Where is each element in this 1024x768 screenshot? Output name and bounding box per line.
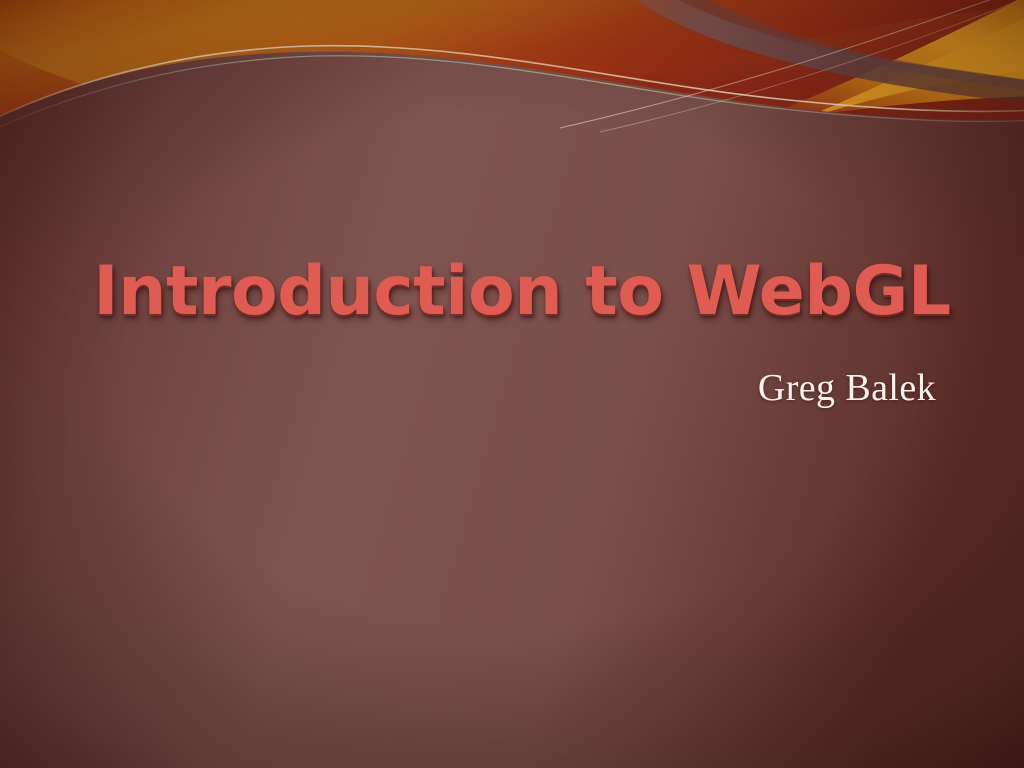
presenter-name: Greg Balek xyxy=(92,366,936,410)
subtitle-placeholder: Greg Balek xyxy=(92,366,952,410)
title-placeholder: Introduction to WebGL xyxy=(92,256,952,328)
presentation-slide: Introduction to WebGL Greg Balek xyxy=(0,0,1024,768)
page-title: Introduction to WebGL xyxy=(92,256,952,328)
